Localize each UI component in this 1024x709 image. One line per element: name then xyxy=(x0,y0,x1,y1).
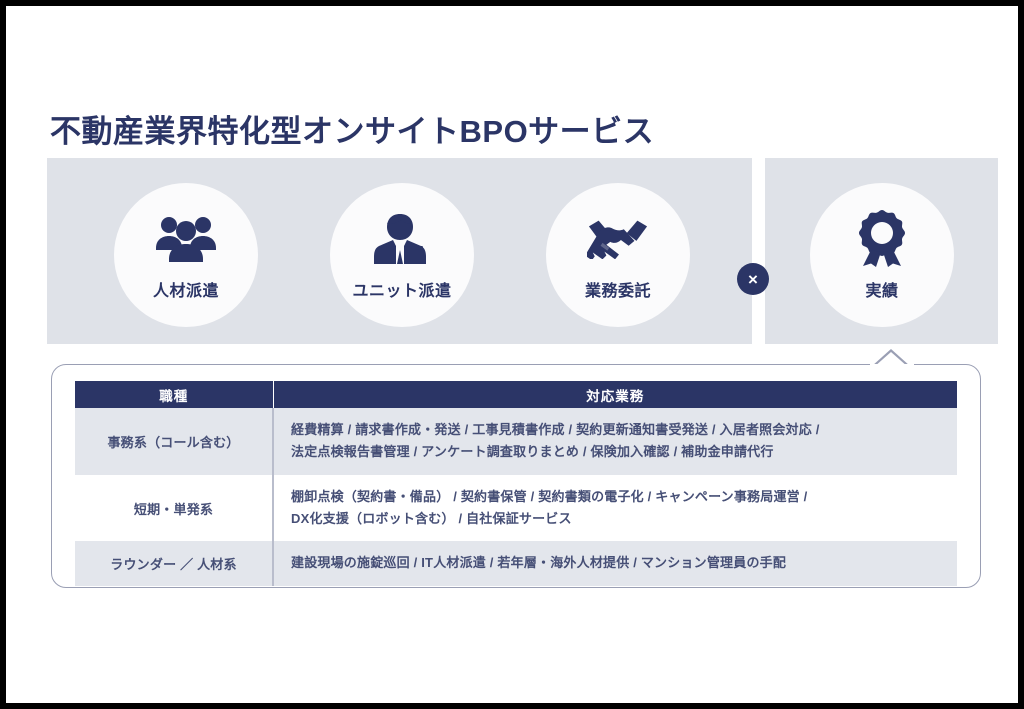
service-card-jisseki[interactable]: 実績 xyxy=(810,183,954,327)
slide-canvas: 不動産業界特化型オンサイトBPOサービス 人材派遣 xyxy=(6,6,1018,703)
jobs-table-card: 職種 対応業務 事務系（コール含む） 経費精算 / 請求書作成・発送 / 工事見… xyxy=(51,364,981,588)
service-card-label: 人材派遣 xyxy=(153,277,219,301)
service-card-label: ユニット派遣 xyxy=(352,277,451,301)
column-header-job-type: 職種 xyxy=(75,381,273,408)
table-row: ラウンダー ／ 人材系 建設現場の施錠巡回 / IT人材派遣 / 若年層・海外人… xyxy=(75,541,957,585)
business-person-icon xyxy=(371,207,433,269)
service-card-label: 実績 xyxy=(865,277,898,301)
table-header-row: 職種 対応業務 xyxy=(75,381,957,408)
service-card-unit-haken[interactable]: ユニット派遣 xyxy=(330,183,474,327)
service-card-jinzai-haken[interactable]: 人材派遣 xyxy=(114,183,258,327)
column-header-services: 対応業務 xyxy=(273,381,957,408)
service-line: 棚卸点検（契約書・備品） / 契約書保管 / 契約書類の電子化 / キャンペーン… xyxy=(291,486,957,508)
service-line: 法定点検報告書管理 / アンケート調査取りまとめ / 保険加入確認 / 補助金申… xyxy=(291,441,957,463)
award-ribbon-icon xyxy=(851,207,913,269)
page-title: 不動産業界特化型オンサイトBPOサービス xyxy=(50,106,654,151)
cell-services: 棚卸点検（契約書・備品） / 契約書保管 / 契約書類の電子化 / キャンペーン… xyxy=(273,475,957,542)
cell-job-type: 事務系（コール含む） xyxy=(75,408,273,475)
table-row: 短期・単発系 棚卸点検（契約書・備品） / 契約書保管 / 契約書類の電子化 /… xyxy=(75,475,957,542)
handshake-icon xyxy=(587,207,649,269)
table-row: 事務系（コール含む） 経費精算 / 請求書作成・発送 / 工事見積書作成 / 契… xyxy=(75,408,957,475)
cell-services: 建設現場の施錠巡回 / IT人材派遣 / 若年層・海外人材提供 / マンション管… xyxy=(273,541,957,585)
service-line: DX化支援（ロボット含む） / 自社保証サービス xyxy=(291,508,957,530)
callout-arrow-inner xyxy=(874,352,908,367)
cell-job-type: 短期・単発系 xyxy=(75,475,273,542)
jobs-table: 職種 対応業務 事務系（コール含む） 経費精算 / 請求書作成・発送 / 工事見… xyxy=(75,381,957,586)
service-line: 建設現場の施錠巡回 / IT人材派遣 / 若年層・海外人材提供 / マンション管… xyxy=(291,552,957,574)
service-card-gyomu-itaku[interactable]: 業務委託 xyxy=(546,183,690,327)
cell-job-type: ラウンダー ／ 人材系 xyxy=(75,541,273,585)
service-card-label: 業務委託 xyxy=(585,277,651,301)
multiply-icon: × xyxy=(737,263,769,295)
cell-services: 経費精算 / 請求書作成・発送 / 工事見積書作成 / 契約更新通知書受発送 /… xyxy=(273,408,957,475)
service-line: 経費精算 / 請求書作成・発送 / 工事見積書作成 / 契約更新通知書受発送 /… xyxy=(291,419,957,441)
service-band: 人材派遣 ユニット派遣 xyxy=(47,158,998,344)
people-group-icon xyxy=(155,207,217,269)
